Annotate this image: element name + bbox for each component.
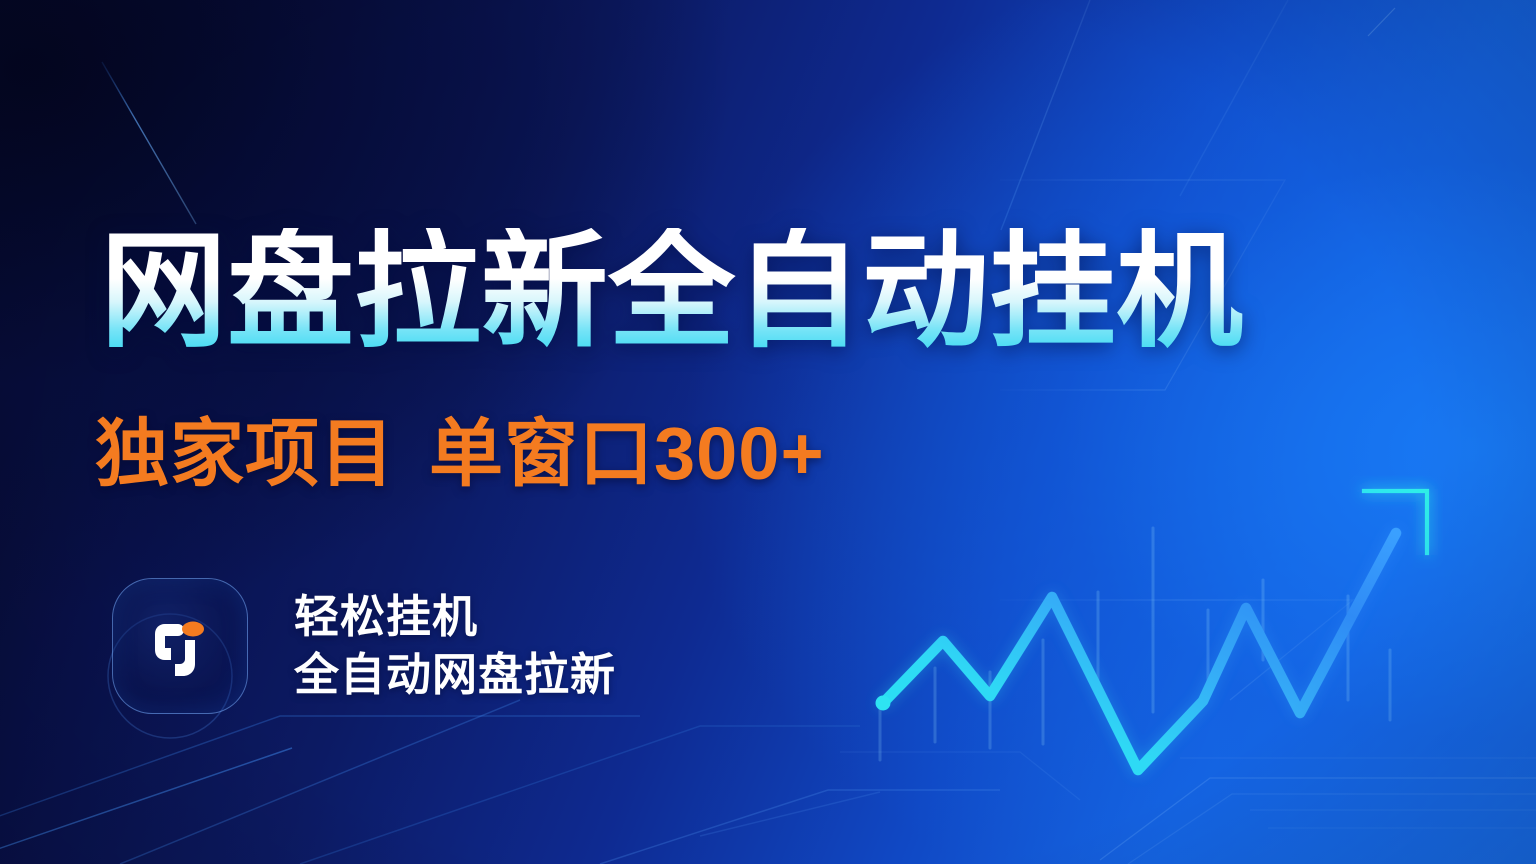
subtitle-left-text: 独家项目 [95,412,395,495]
gj-logo-icon [138,604,222,688]
page-title: 网盘拉新全自动挂机 [100,228,1243,355]
promo-banner: 网盘拉新全自动挂机 独家项目单窗口300+ 轻松挂机 全自动网盘拉新 [0,0,1536,864]
subtitle: 独家项目单窗口300+ [95,417,825,491]
title-container: 网盘拉新全自动挂机 [100,228,1243,355]
logo-badge [112,578,248,714]
brand-block: 轻松挂机 全自动网盘拉新 [112,578,616,714]
tagline-container: 轻松挂机 全自动网盘拉新 [294,588,616,705]
subtitle-right-text: 单窗口300+ [429,412,825,495]
tagline-line-1: 轻松挂机 [294,588,616,647]
tagline-line-2: 全自动网盘拉新 [294,646,616,705]
